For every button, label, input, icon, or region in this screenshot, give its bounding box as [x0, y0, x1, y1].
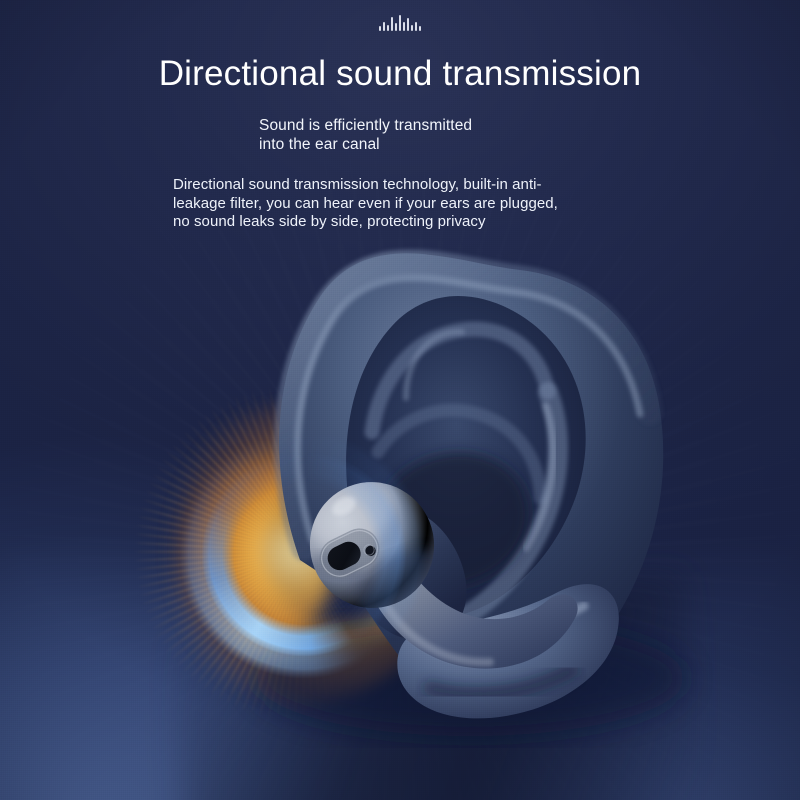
product-feature-banner: Directional sound transmission Sound is …	[0, 0, 800, 800]
page-title: Directional sound transmission	[0, 54, 800, 94]
body-line-1: Directional sound transmission technolog…	[173, 176, 558, 195]
waveform-bar-1	[379, 26, 381, 31]
body-line-2: leakage filter, you can hear even if you…	[173, 195, 558, 214]
subtitle-line-1: Sound is efficiently transmitted	[259, 116, 472, 135]
subtitle-line-2: into the ear canal	[259, 135, 472, 154]
body-copy: Directional sound transmission technolog…	[173, 176, 558, 232]
waveform-bar-5	[395, 23, 397, 31]
sound-waveform-icon	[0, 9, 800, 31]
waveform-bar-3	[387, 25, 389, 31]
waveform-bar-9	[411, 25, 413, 31]
subtitle: Sound is efficiently transmitted into th…	[259, 116, 472, 154]
waveform-bar-11	[419, 26, 421, 31]
waveform-bar-6	[399, 15, 401, 31]
waveform-bar-2	[383, 22, 385, 31]
waveform-bar-7	[403, 22, 405, 31]
body-line-3: no sound leaks side by side, protecting …	[173, 213, 558, 232]
waveform-bar-8	[407, 18, 409, 31]
waveform-bar-10	[415, 22, 417, 31]
waveform-bar-4	[391, 17, 393, 31]
